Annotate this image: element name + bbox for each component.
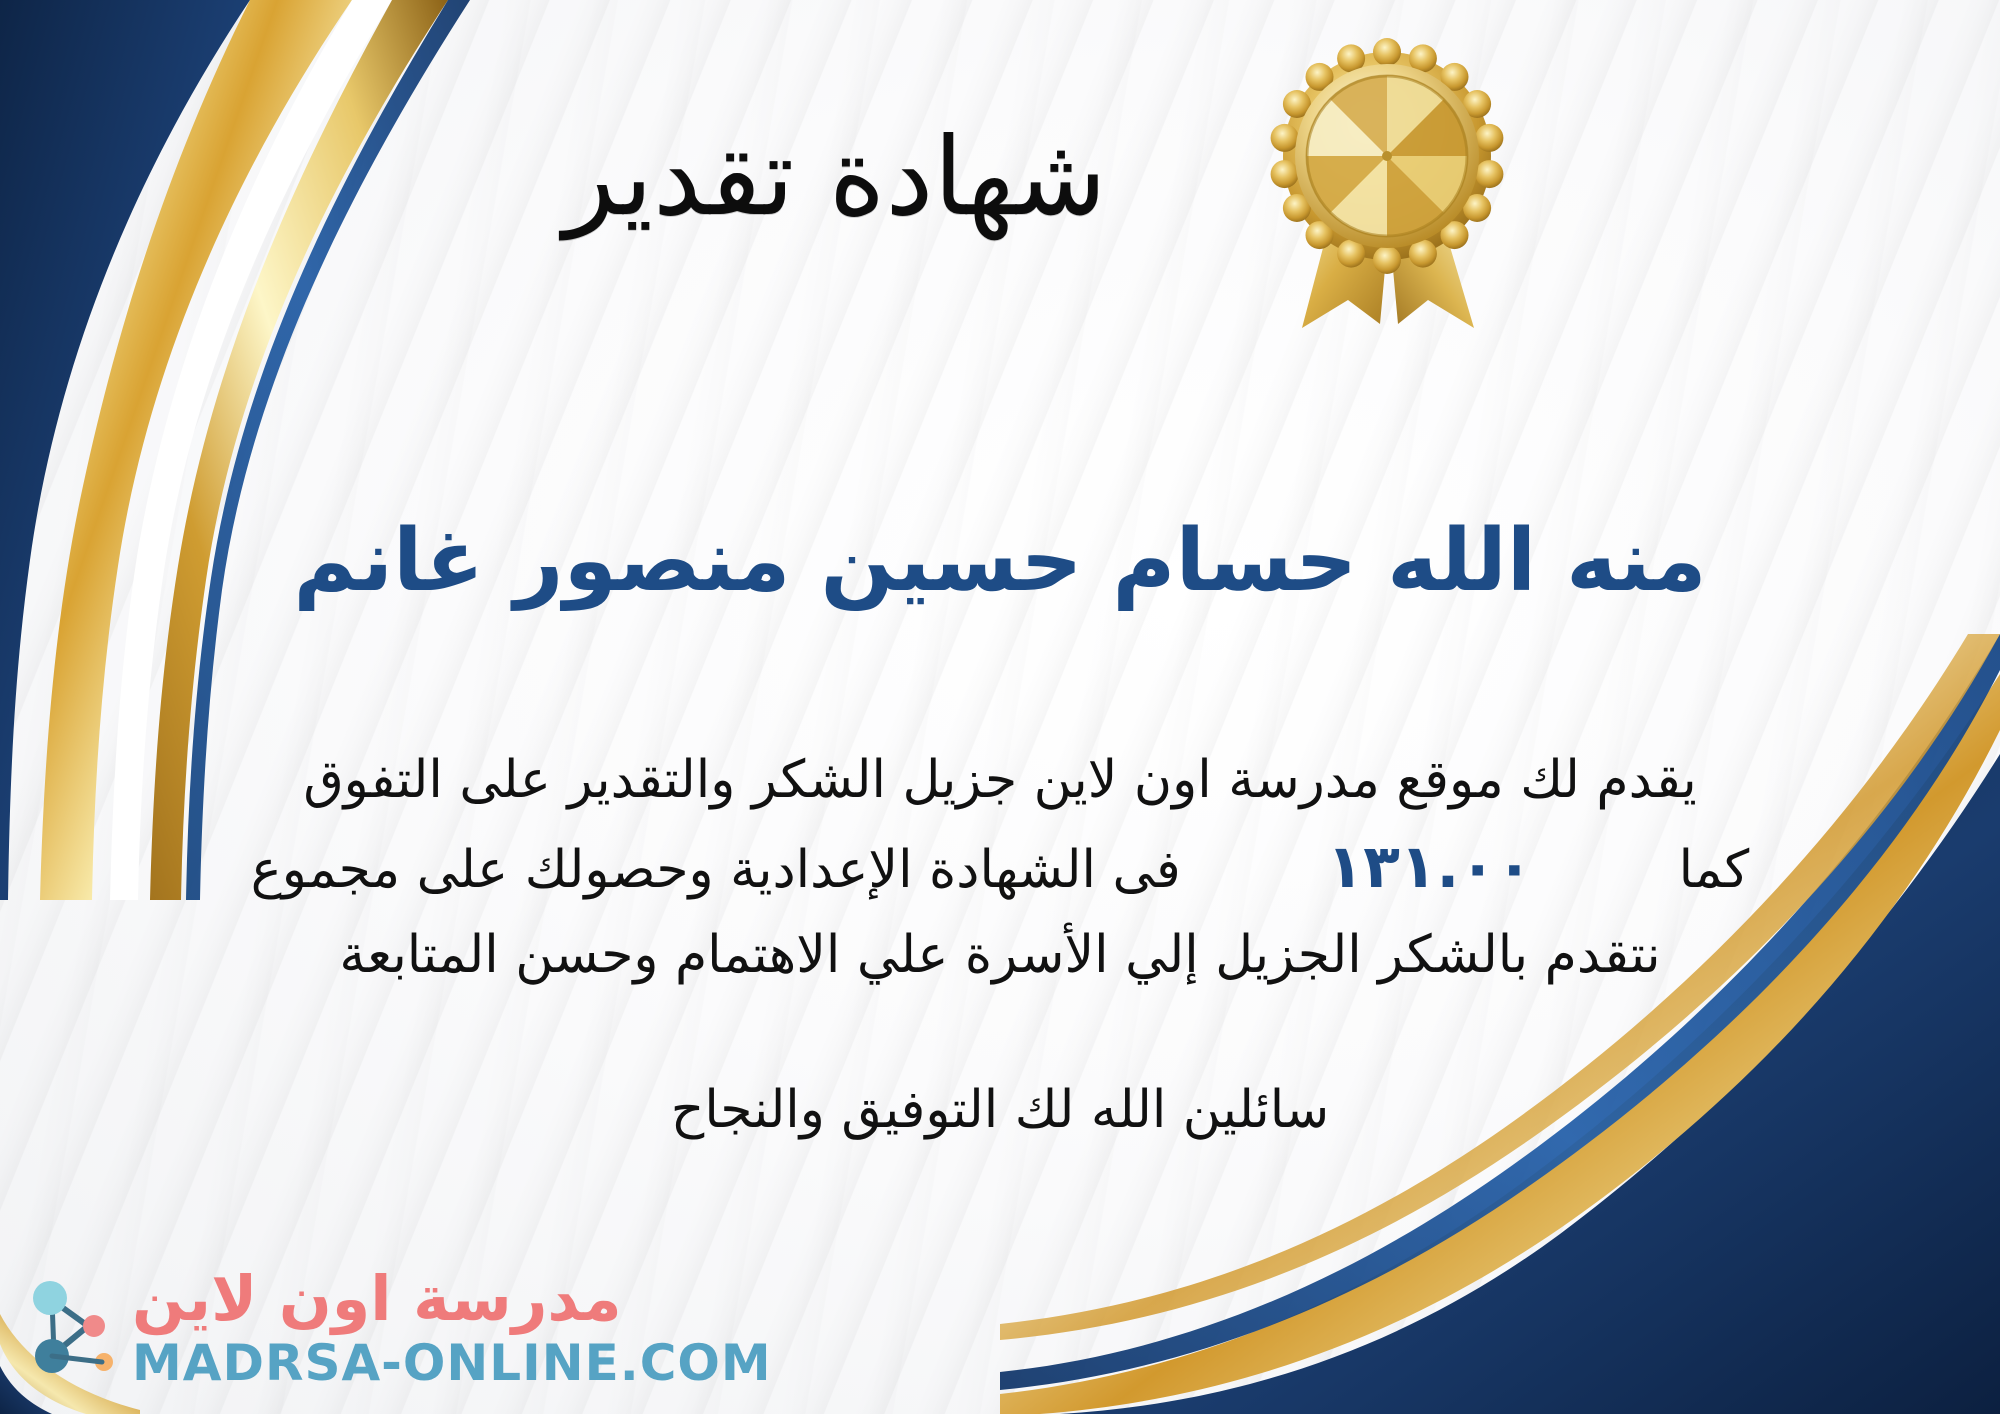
body-line-1: يقدم لك موقع مدرسة اون لاين جزيل الشكر و… (90, 740, 1910, 821)
body-line-2-prefix: كما (1679, 840, 1750, 900)
certificate-document: شهادة تقدير منه الله حسام حسين منصور غان… (0, 0, 2000, 1414)
grade-total-value: ١٣١.٠٠ (1301, 832, 1559, 902)
network-nodes-icon (26, 1274, 118, 1382)
recipient-name: منه الله حسام حسين منصور غانم (0, 508, 2000, 616)
page-title: شهادة تقدير (0, 118, 2000, 239)
body-line-2-suffix: فى الشهادة الإعدادية وحصولك على مجموع (251, 840, 1181, 900)
brand-arabic-name: مدرسة اون لاين (132, 1268, 622, 1330)
closing-line: سائلين الله لك التوفيق والنجاح (0, 1080, 2000, 1140)
brand-website[interactable]: MADRSA-ONLINE.COM (132, 1338, 772, 1388)
body-line-3: نتقدم بالشكر الجزيل إلي الأسرة علي الاهت… (90, 915, 1910, 996)
body-line-2: كما١٣١.٠٠فى الشهادة الإعدادية وحصولك على… (90, 821, 1910, 915)
brand-logo[interactable]: مدرسة اون لاين MADRSA-ONLINE.COM (26, 1268, 772, 1388)
brand-text: مدرسة اون لاين MADRSA-ONLINE.COM (132, 1268, 772, 1388)
certificate-body: يقدم لك موقع مدرسة اون لاين جزيل الشكر و… (90, 740, 1910, 996)
